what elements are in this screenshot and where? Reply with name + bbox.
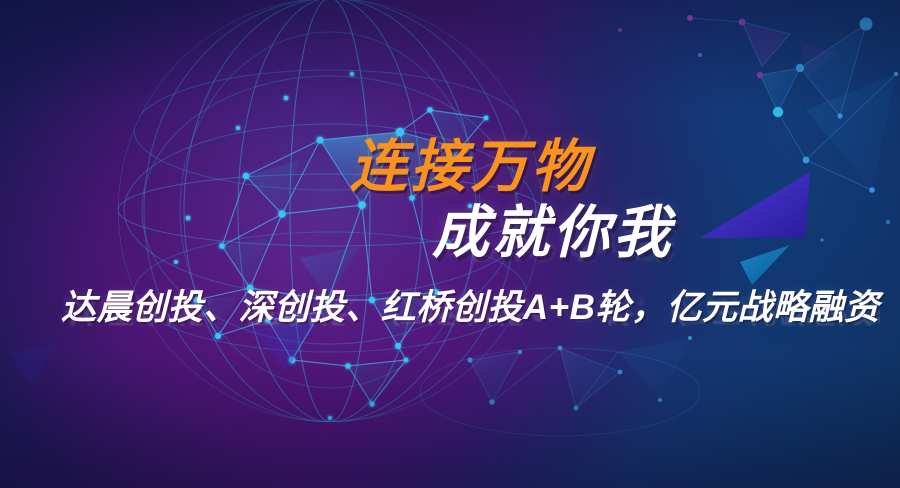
headline-line-2: 成就你我 <box>432 205 674 262</box>
banner-text-layer: 成就你我 连接万物 成就你我 达晨创投、深创投、红桥创投A+B轮，亿元战略融资 … <box>0 0 900 488</box>
banner-subtitle: 达晨创投、深创投、红桥创投A+B轮，亿元战略融资 <box>61 290 880 325</box>
promo-banner: 成就你我 连接万物 成就你我 达晨创投、深创投、红桥创投A+B轮，亿元战略融资 … <box>0 0 900 488</box>
headline-line-1: 连接万物 <box>350 139 592 196</box>
